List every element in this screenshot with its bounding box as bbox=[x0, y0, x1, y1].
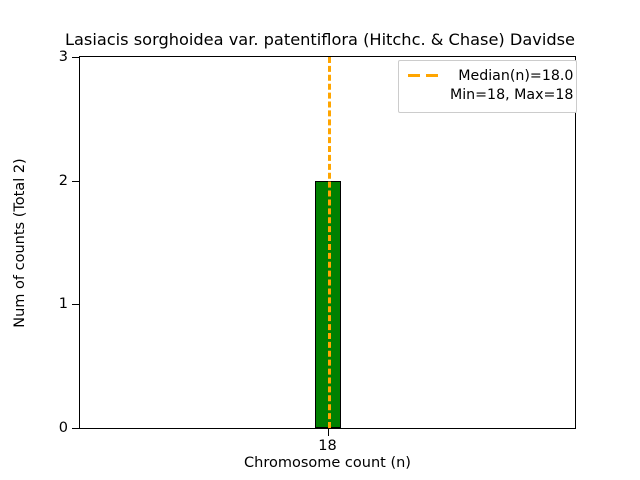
legend-label: Median(n)=18.0 Min=18, Max=18 bbox=[450, 67, 573, 105]
y-axis-label: Num of counts (Total 2) bbox=[11, 158, 29, 327]
legend-dash-segment bbox=[408, 74, 420, 77]
legend-label-line-2: Min=18, Max=18 bbox=[450, 86, 573, 105]
legend-median-line-sample bbox=[407, 67, 441, 84]
chart-legend: Median(n)=18.0 Min=18, Max=18 bbox=[398, 60, 577, 113]
median-line bbox=[328, 57, 331, 428]
y-tick-mark bbox=[72, 304, 80, 305]
x-axis-label: Chromosome count (n) bbox=[79, 455, 576, 471]
legend-label-line-1: Median(n)=18.0 bbox=[450, 67, 573, 86]
y-tick-mark bbox=[72, 181, 80, 182]
x-tick-mark bbox=[328, 428, 329, 436]
y-axis-label-container: Num of counts (Total 2) bbox=[0, 56, 40, 429]
y-tick-label: 2 bbox=[42, 174, 68, 189]
y-tick-mark bbox=[72, 428, 80, 429]
x-tick-label: 18 bbox=[318, 438, 336, 454]
chart-figure: Lasiacis sorghoidea var. patentiflora (H… bbox=[0, 0, 640, 480]
y-tick-label: 0 bbox=[42, 421, 68, 436]
y-tick-label: 3 bbox=[42, 50, 68, 65]
chart-title: Lasiacis sorghoidea var. patentiflora (H… bbox=[0, 30, 640, 50]
legend-dash-segment bbox=[426, 74, 438, 77]
y-tick-mark bbox=[72, 57, 80, 58]
y-tick-label: 1 bbox=[42, 297, 68, 312]
